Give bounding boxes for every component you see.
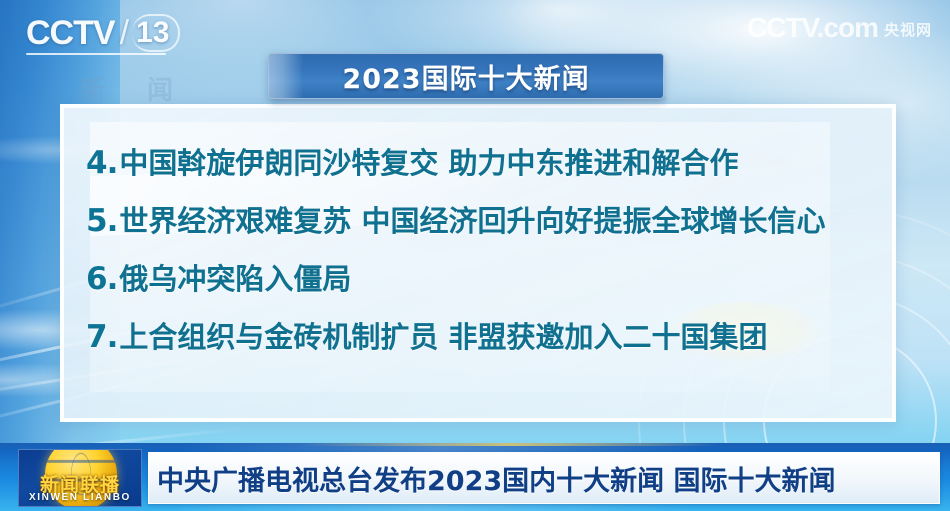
news-item-headline: 世界经济艰难复苏 中国经济回升向好提振全球增长信心: [119, 198, 825, 240]
news-item-headline: 上合组织与金砖机制扩员 非盟获邀加入二十国集团: [119, 314, 767, 356]
xinwen-lianbo-logo: 新闻联播 XINWEN LIANBO: [18, 449, 142, 507]
news-list-item: 5. 世界经济艰难复苏 中国经济回升向好提振全球增长信心: [86, 198, 886, 256]
page-title: 2023国际十大新闻: [342, 57, 589, 96]
news-item-headline: 俄乌冲突陷入僵局: [119, 256, 351, 298]
news-list-item: 7. 上合组织与金砖机制扩员 非盟获邀加入二十国集团: [86, 314, 886, 372]
program-name-en: XINWEN LIANBO: [19, 492, 141, 503]
broadcast-screen: CCTV / 13 CCTV.com 央视网 新 闻 2023国际十大新闻 4.…: [0, 0, 950, 511]
news-item-number: 6.: [86, 261, 117, 297]
ticker-headline: 中央广播电视总台发布2023国内十大新闻 国际十大新闻: [149, 459, 836, 498]
news-item-number: 5.: [86, 203, 117, 239]
news-list-item: 4. 中国斡旋伊朗同沙特复交 助力中东推进和解合作: [86, 140, 886, 198]
gold-accent-line: [300, 443, 720, 446]
lower-third-bar: 新闻联播 XINWEN LIANBO 中央广播电视总台发布2023国内十大新闻 …: [0, 443, 950, 511]
ticker-bar: 中央广播电视总台发布2023国内十大新闻 国际十大新闻: [148, 452, 940, 504]
news-list-item: 6. 俄乌冲突陷入僵局: [86, 256, 886, 314]
news-item-number: 4.: [86, 145, 117, 181]
news-item-number: 7.: [86, 319, 117, 355]
news-item-headline: 中国斡旋伊朗同沙特复交 助力中东推进和解合作: [119, 140, 738, 182]
news-list: 4. 中国斡旋伊朗同沙特复交 助力中东推进和解合作 5. 世界经济艰难复苏 中国…: [86, 140, 886, 372]
title-banner: 2023国际十大新闻: [268, 53, 664, 99]
cctv-logo-underline: [26, 53, 166, 55]
ghost-news-watermark: 新 闻: [80, 70, 189, 107]
